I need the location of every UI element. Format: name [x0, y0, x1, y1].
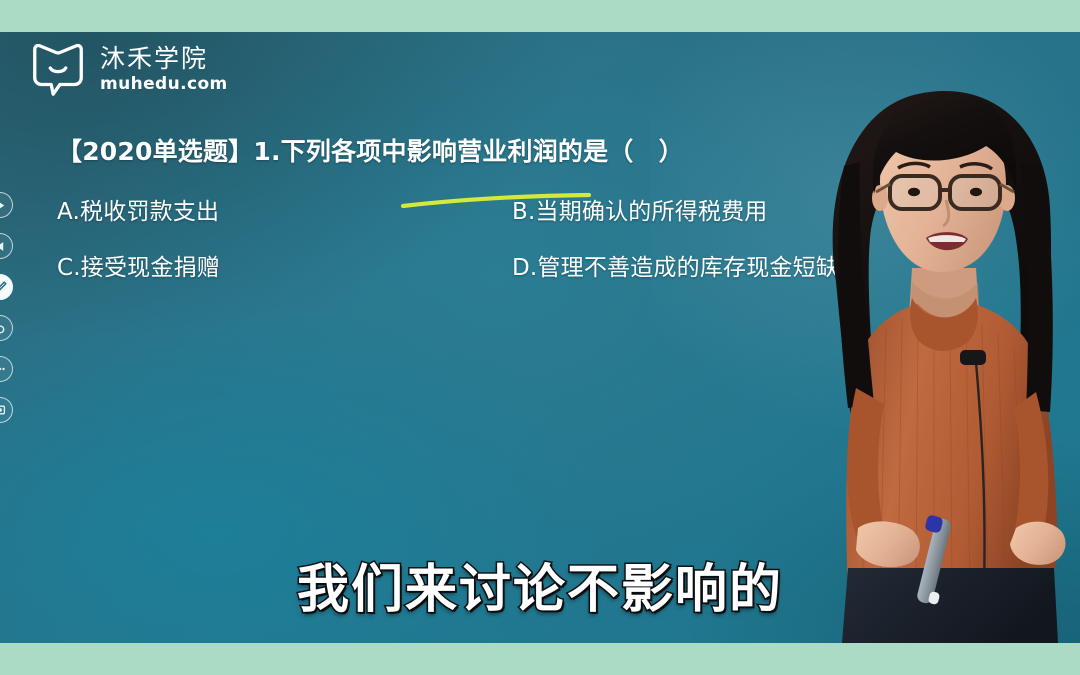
presenter-svg [800, 32, 1080, 643]
option-a[interactable]: A.税收罚款支出 [57, 192, 219, 226]
brand-logo: 沐禾学院 muhedu.com [27, 38, 228, 100]
video-canvas[interactable]: 沐禾学院 muhedu.com 【2020单选题】1.下列各项中影响营业利润的是… [0, 32, 1080, 643]
option-d[interactable]: D.管理不善造成的库存现金短缺 [512, 248, 839, 282]
play-glyph [0, 199, 7, 212]
eye-left [908, 188, 920, 196]
eye-right [970, 188, 982, 196]
letterbox-band-top [0, 0, 1080, 32]
presenter-video-figure [800, 32, 1080, 643]
more-glyph [0, 362, 7, 376]
more-icon[interactable] [0, 356, 13, 382]
brand-name-cn: 沐禾学院 [100, 46, 228, 71]
lapel-mic-icon [960, 350, 986, 365]
letterbox-band-bottom [0, 643, 1080, 675]
screenshot-glyph [0, 403, 7, 417]
brand-wordmark: 沐禾学院 muhedu.com [100, 46, 228, 93]
tool-rail [0, 192, 27, 423]
video-player-frame: 沐禾学院 muhedu.com 【2020单选题】1.下列各项中影响营业利润的是… [0, 0, 1080, 675]
question-text: 【2020单选题】1.下列各项中影响营业利润的是（ ） [57, 132, 684, 168]
pen-glyph [0, 280, 8, 295]
option-b[interactable]: B.当期确认的所得税费用 [512, 192, 768, 226]
rewind-glyph [0, 240, 7, 253]
skirt [842, 568, 1058, 643]
speech-bubble-smile-logo-icon [27, 38, 89, 100]
rewind-icon[interactable] [0, 233, 13, 259]
brand-name-en: muhedu.com [100, 76, 228, 93]
play-icon[interactable] [0, 192, 13, 218]
refresh-note-icon[interactable] [0, 315, 13, 341]
screenshot-icon[interactable] [0, 397, 13, 423]
pen-icon[interactable] [0, 274, 13, 300]
refresh-note-glyph [0, 322, 7, 335]
option-c[interactable]: C.接受现金捐赠 [57, 248, 220, 282]
